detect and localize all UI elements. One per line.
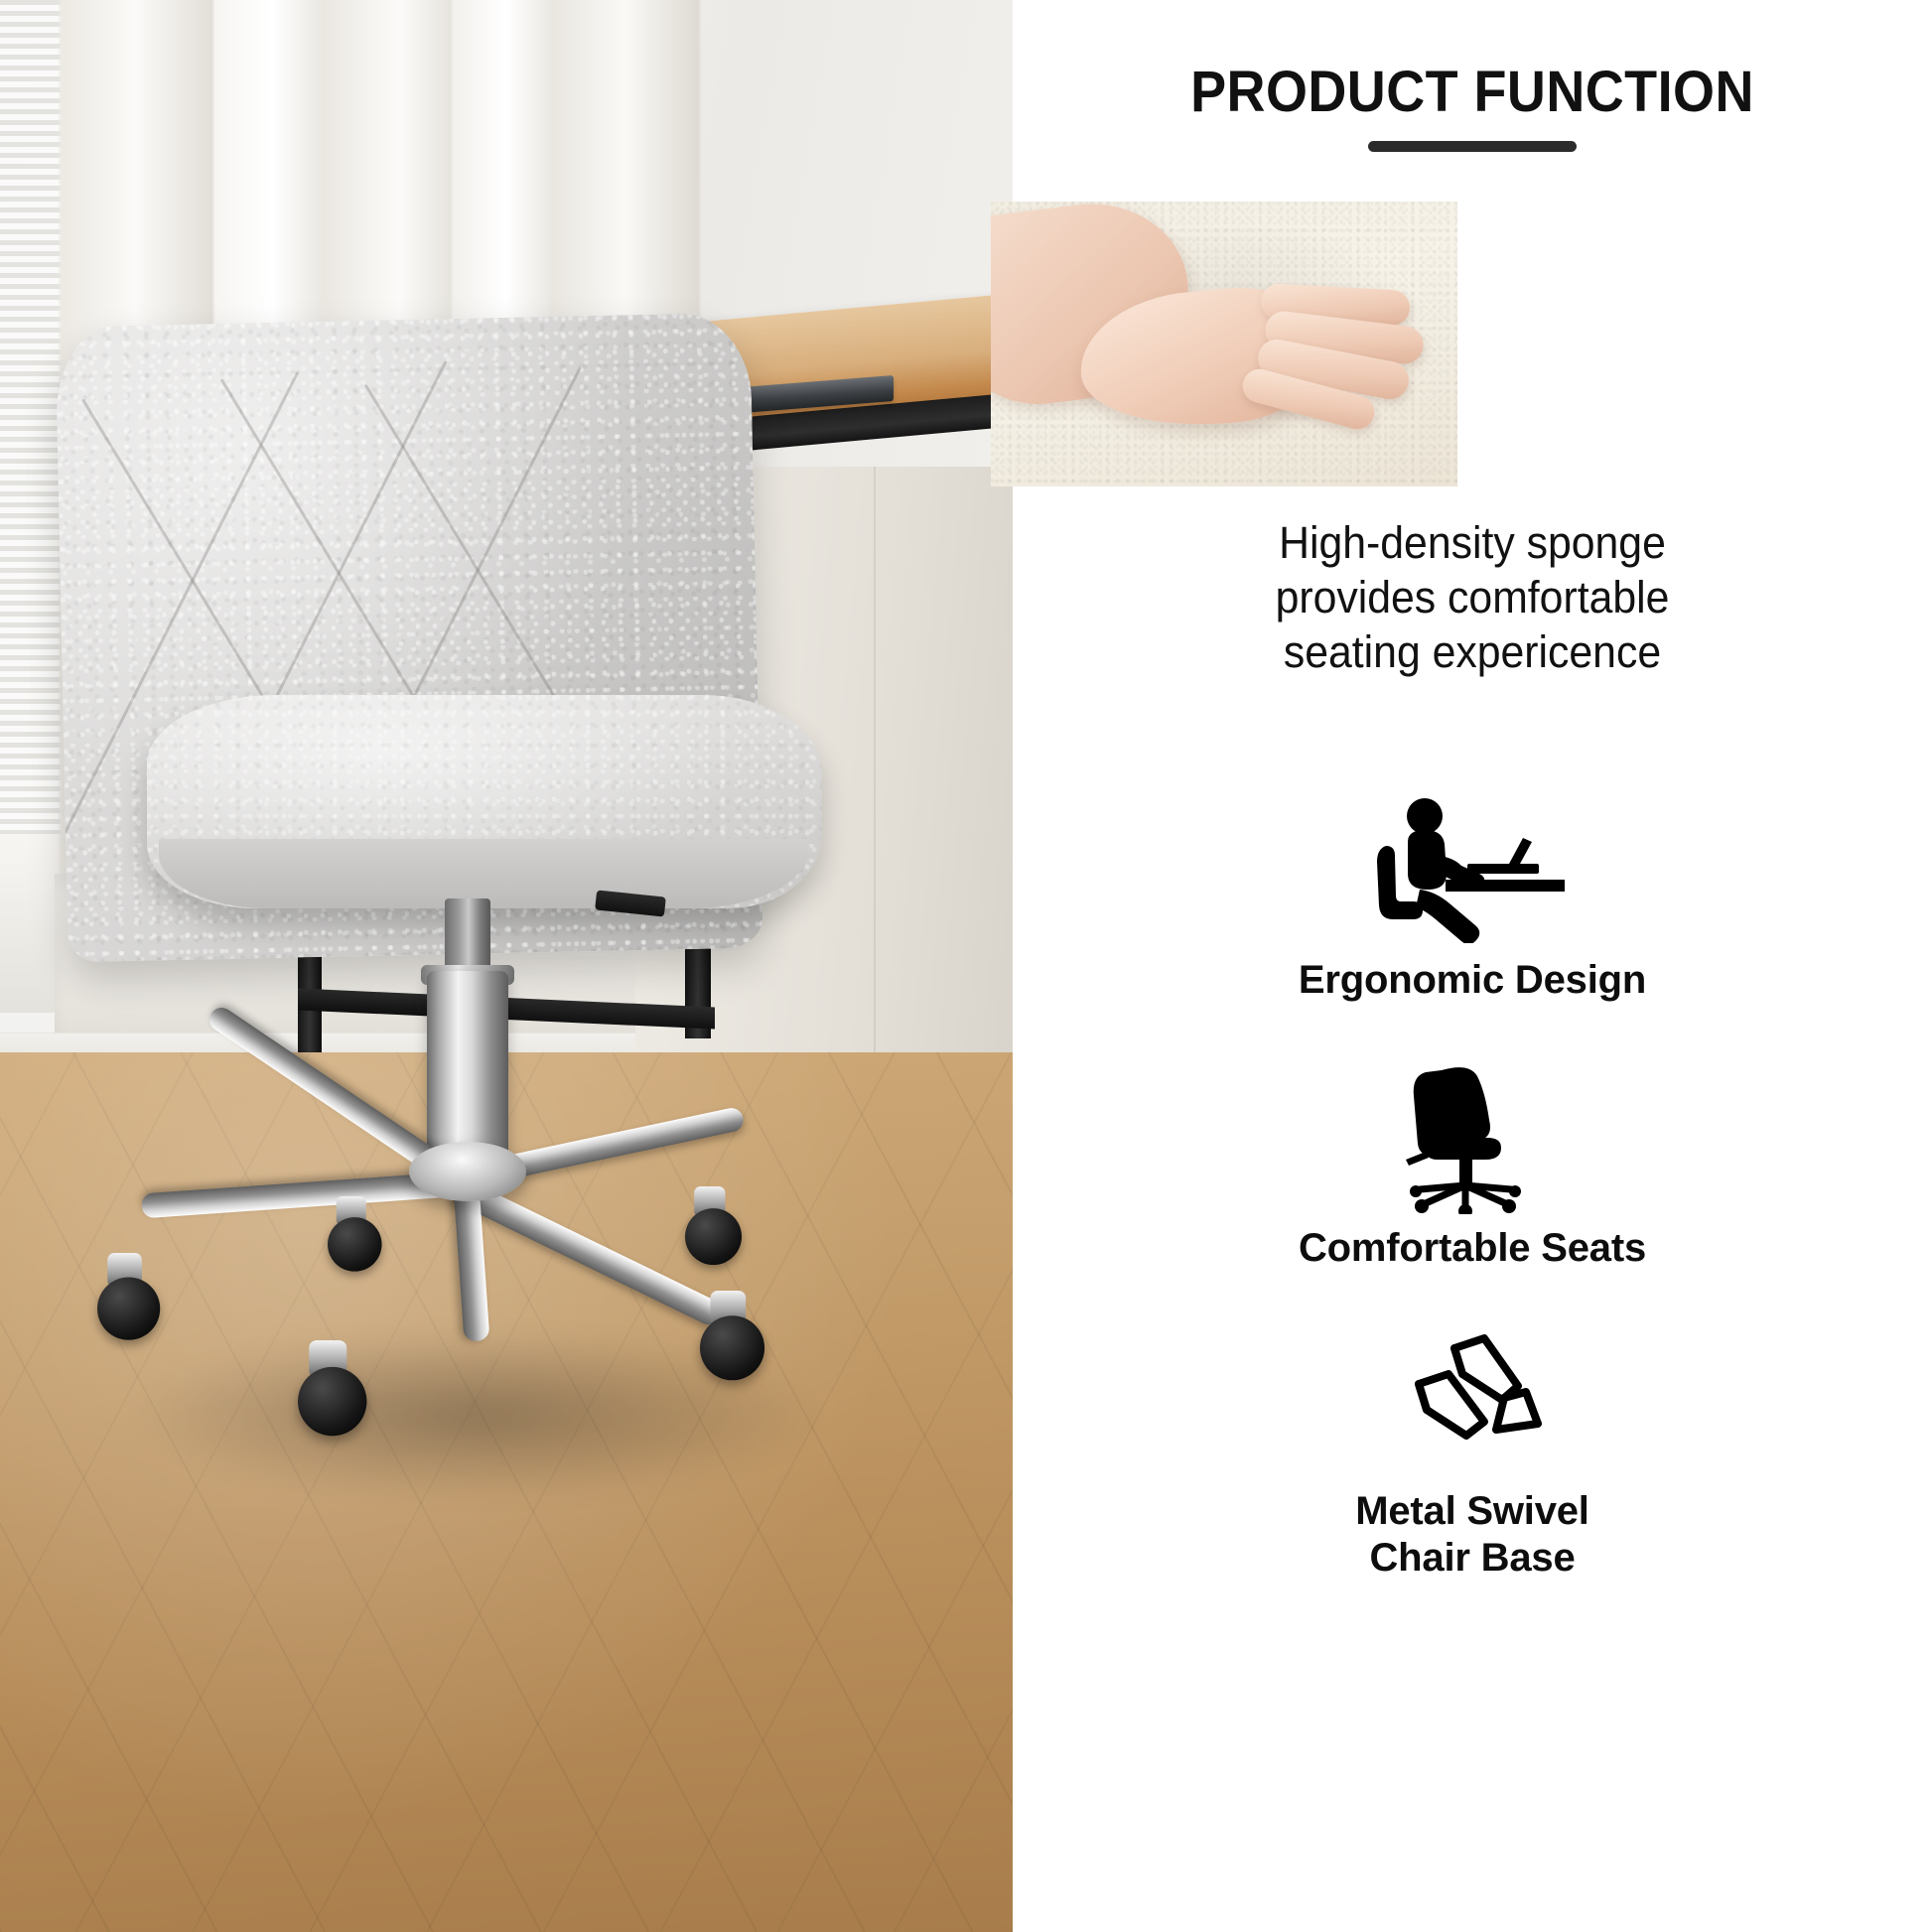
feature-label-line-2: Chair Base — [1013, 1535, 1932, 1582]
caster-tire — [685, 1208, 742, 1265]
info-panel: PRODUCT FUNCTION High-density sponge pro… — [1013, 0, 1932, 1932]
feature-metal-swivel-base: Metal Swivel Chair Base — [1013, 1325, 1932, 1582]
title-underline — [1368, 141, 1577, 152]
description-line-2: provides comfortable — [1035, 571, 1909, 625]
description-line-3: seating expericence — [1035, 625, 1909, 680]
sponge-photo — [991, 202, 1457, 486]
base-hub — [409, 1142, 526, 1201]
caster-tire — [700, 1315, 764, 1380]
cabinet-seam — [874, 467, 876, 1052]
office-chair-icon — [1013, 1062, 1932, 1211]
room-scene: R — [0, 0, 1013, 1932]
feature-label: Ergonomic Design — [1013, 957, 1932, 1004]
feature-label: Comfortable Seats — [1013, 1225, 1932, 1272]
description-line-1: High-density sponge — [1035, 516, 1909, 571]
caster-tire — [298, 1367, 366, 1436]
page-title: PRODUCT FUNCTION — [1044, 64, 1899, 121]
feature-comfortable-seats: Comfortable Seats — [1013, 1062, 1932, 1272]
product-photo: R — [0, 0, 1013, 1932]
caster-tire — [328, 1217, 382, 1272]
caster-tire — [97, 1277, 160, 1339]
chrome-gas-cylinder — [427, 971, 508, 1160]
feature-label-line-1: Metal Swivel — [1013, 1488, 1932, 1535]
product-infographic: R — [0, 0, 1932, 1932]
metal-ingots-icon — [1013, 1325, 1932, 1474]
feature-label: Metal Swivel Chair Base — [1013, 1488, 1932, 1582]
person-at-desk-icon — [1013, 794, 1932, 943]
sponge-description: High-density sponge provides comfortable… — [1035, 516, 1909, 680]
feature-ergonomic-design: Ergonomic Design — [1013, 794, 1932, 1004]
